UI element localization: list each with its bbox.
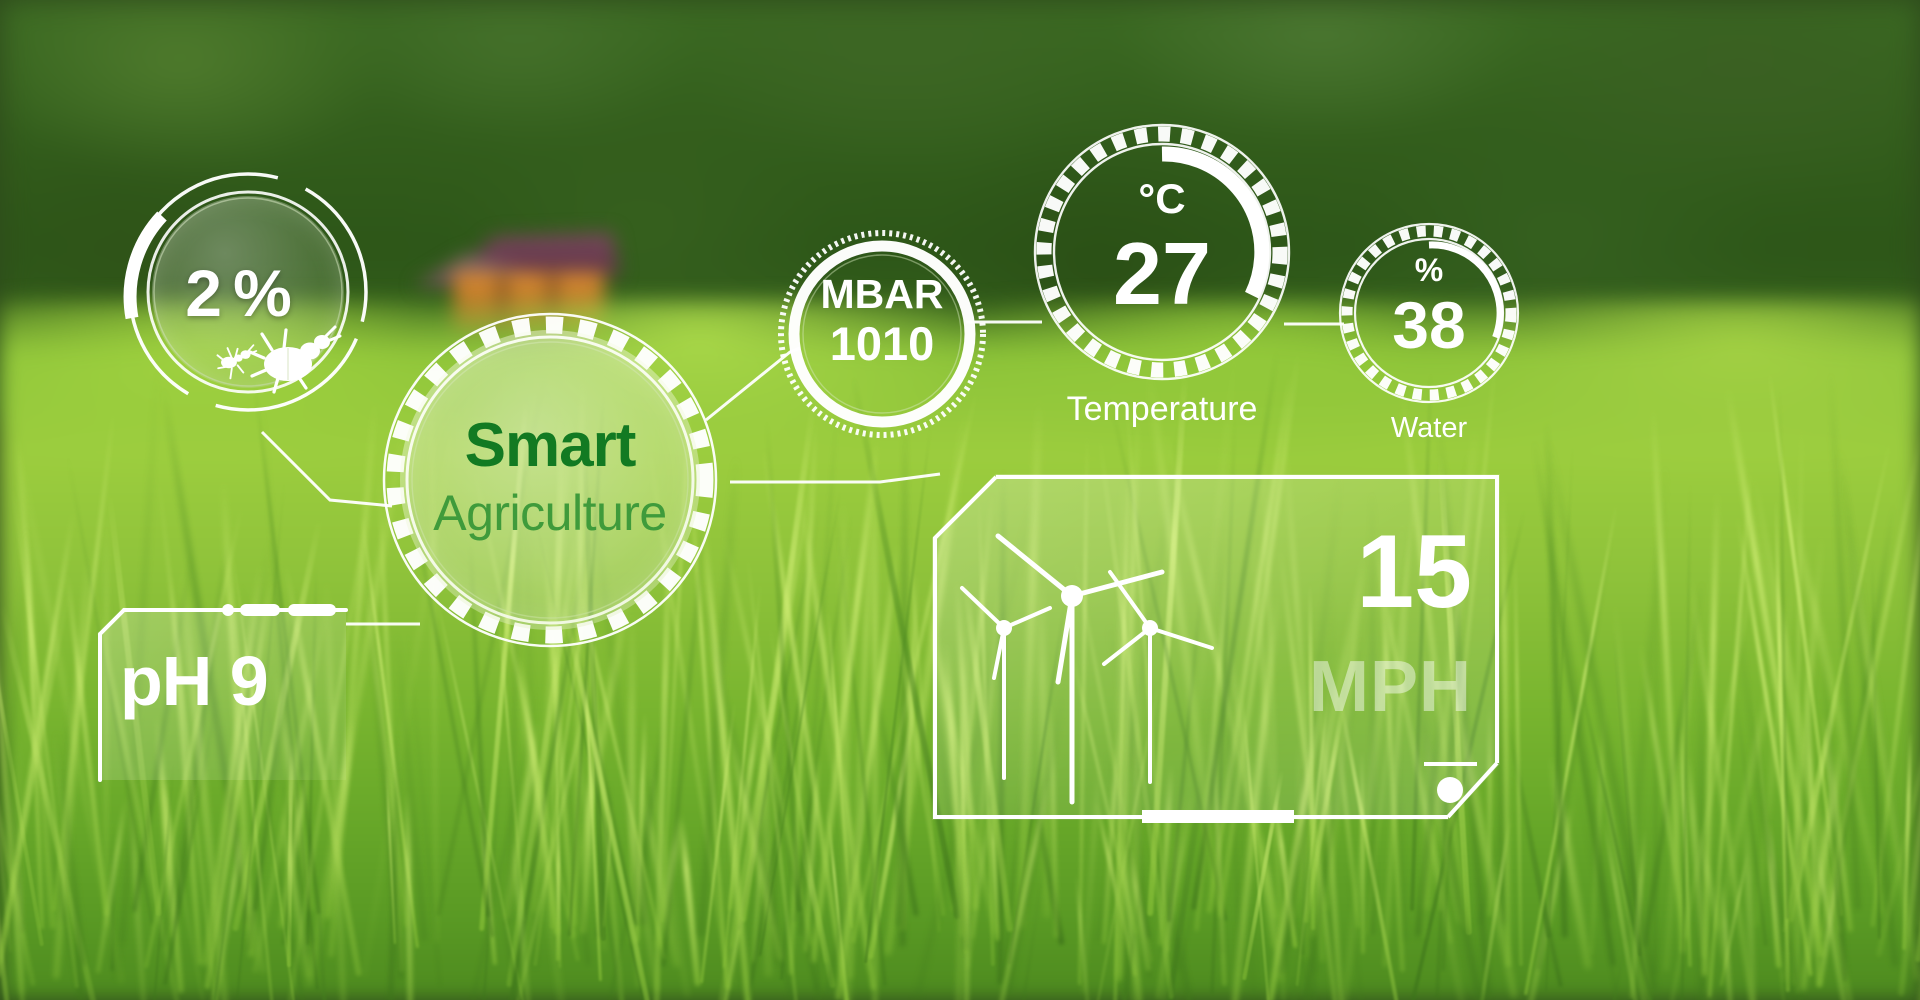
pest-value: 2 % — [116, 260, 360, 326]
pest-widget[interactable]: 2 % — [116, 168, 376, 430]
pressure-value: 1010 — [776, 320, 988, 367]
ph-value: pH 9 — [120, 646, 268, 716]
temperature-value: 27 — [1028, 230, 1296, 318]
wind-widget[interactable]: 15 MPH — [932, 474, 1500, 820]
brand-line-1: Smart — [376, 410, 724, 481]
water-label: Water — [1334, 412, 1524, 445]
link-smart-wind — [730, 474, 940, 482]
temperature-unit: °C — [1028, 178, 1296, 220]
pressure-unit: MBAR — [776, 274, 988, 315]
ph-widget[interactable]: pH 9 — [98, 608, 346, 780]
water-widget[interactable]: % 38 — [1334, 218, 1524, 408]
link-pest-smart — [262, 432, 392, 506]
brand-line-2: Agriculture — [376, 484, 724, 542]
insect-icon — [212, 320, 332, 388]
pressure-widget[interactable]: MBAR 1010 — [776, 228, 988, 440]
temperature-label: Temperature — [1028, 390, 1296, 429]
temperature-widget[interactable]: °C 27 — [1028, 118, 1296, 386]
water-unit: % — [1334, 254, 1524, 286]
smart-agriculture-widget[interactable]: Smart Agriculture — [376, 306, 724, 654]
wind-unit: MPH — [1192, 646, 1472, 728]
water-value: 38 — [1334, 292, 1524, 358]
wind-value: 15 — [1232, 520, 1472, 624]
dashboard-stage: 2 % — [0, 0, 1920, 1000]
